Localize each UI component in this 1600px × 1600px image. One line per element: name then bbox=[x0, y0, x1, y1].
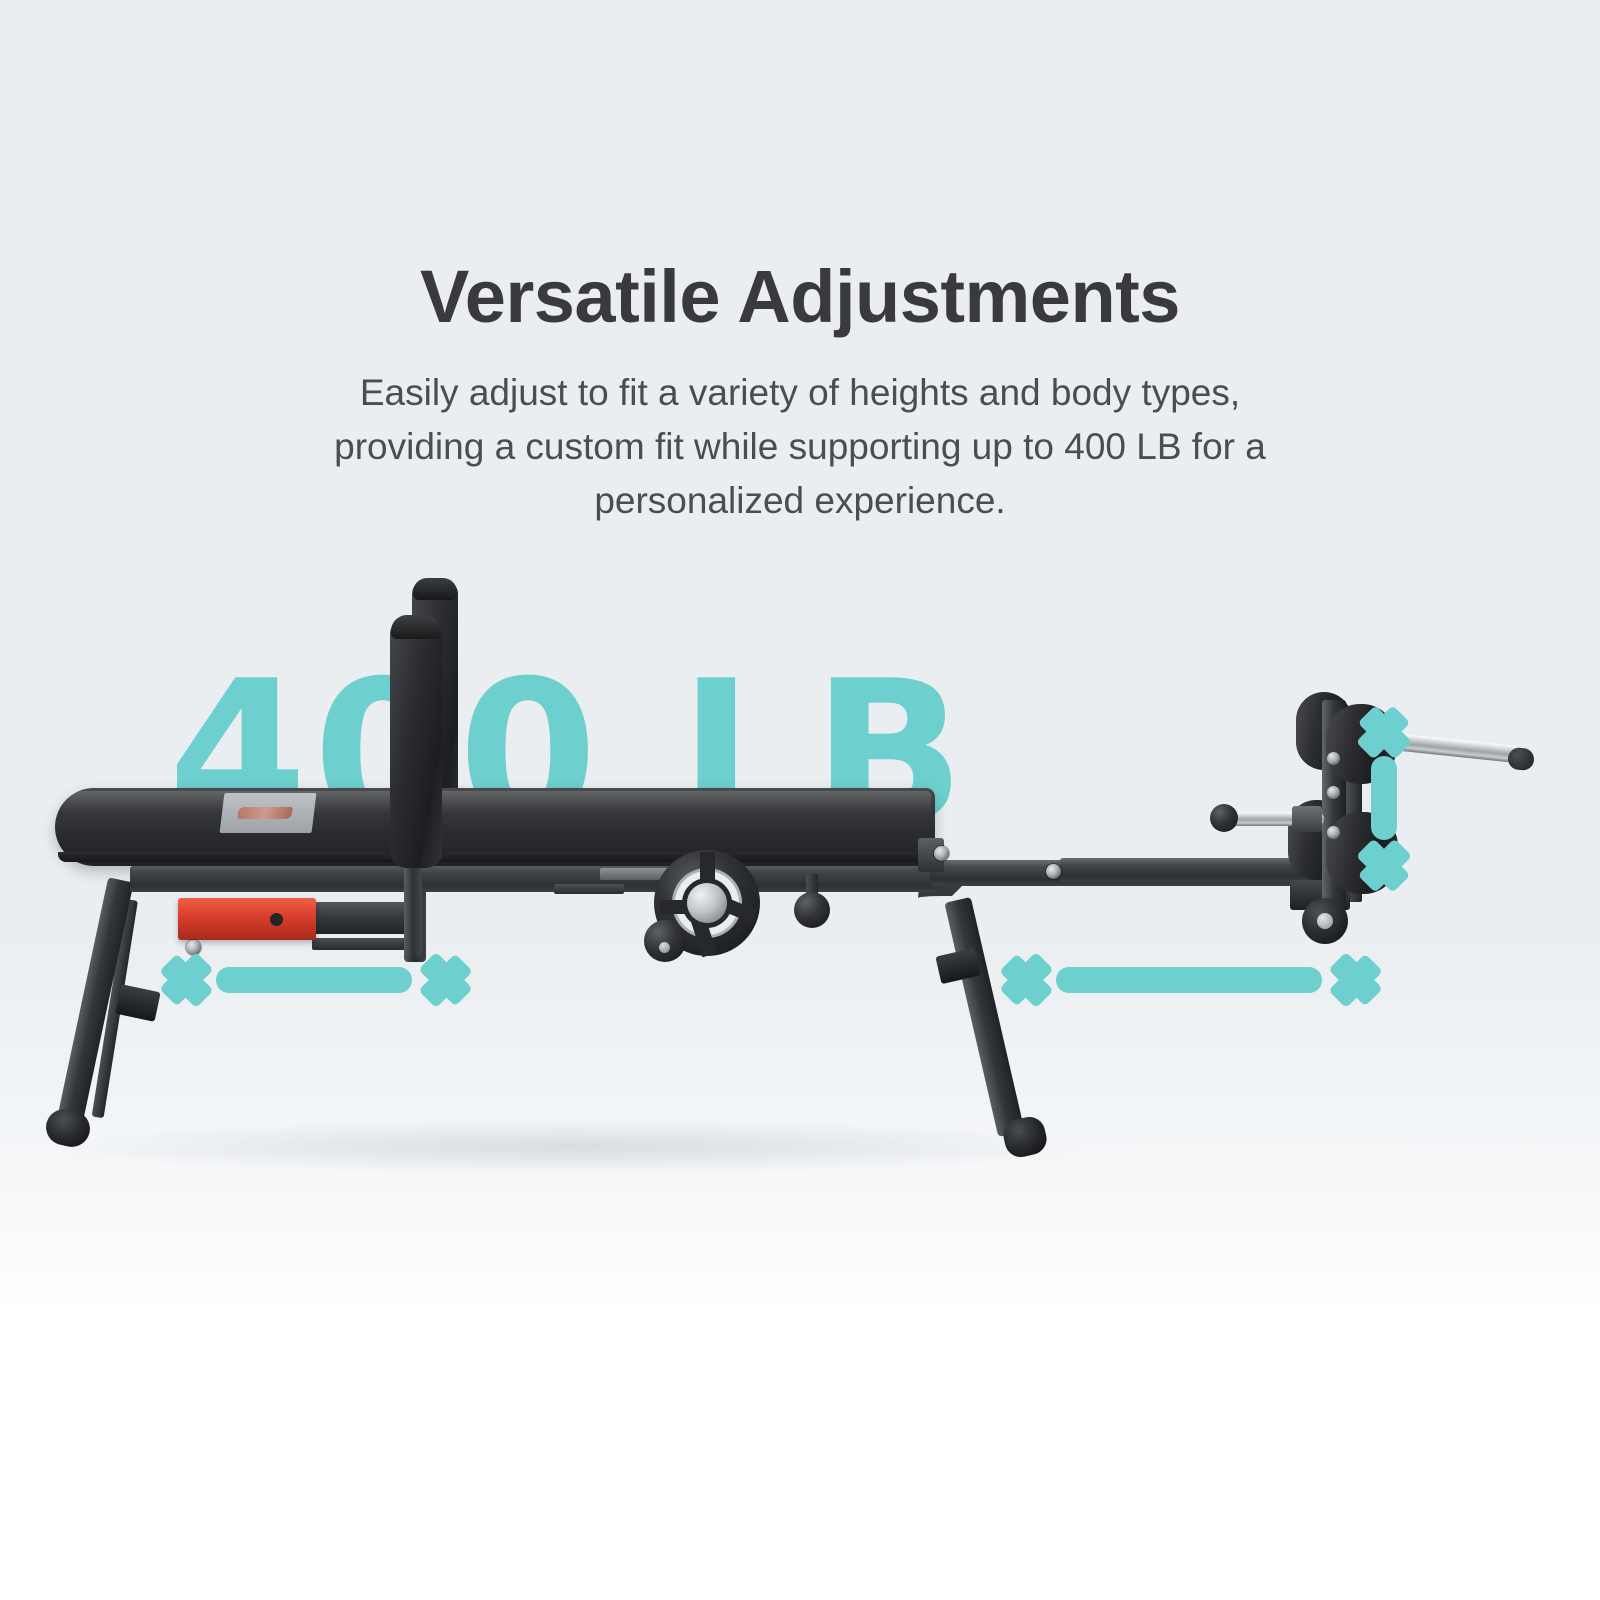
arrow-head-left-icon bbox=[168, 942, 214, 1018]
hand-wheel-ball-knob bbox=[644, 920, 686, 962]
arrow-head-up-icon bbox=[1346, 714, 1422, 760]
leg-developer-pin-ball-knob bbox=[1210, 804, 1238, 832]
arrow-head-down-icon bbox=[1346, 832, 1422, 878]
arrow-head-right-icon bbox=[1322, 942, 1368, 1018]
pop-pin-ball-knob bbox=[794, 892, 830, 928]
bench-pad-seam bbox=[58, 852, 934, 862]
rail-bolt-icon bbox=[1046, 864, 1061, 879]
arrow-head-right-icon bbox=[412, 942, 458, 1018]
leg-developer-bar-end-cap bbox=[1507, 747, 1535, 772]
front-adjustment-arrow-icon bbox=[168, 938, 458, 1022]
arrow-shaft bbox=[216, 967, 412, 993]
seat-slider-plate bbox=[554, 884, 624, 894]
arrow-shaft bbox=[1371, 756, 1397, 840]
leg-developer-pin-collar bbox=[1292, 806, 1322, 832]
front-leg-collar bbox=[115, 984, 160, 1022]
arrow-shaft bbox=[1056, 967, 1322, 993]
product-stage: 400 LB bbox=[0, 0, 1600, 1600]
bracket-arm bbox=[312, 902, 416, 934]
leg-developer-height-arrow-icon bbox=[1342, 714, 1426, 878]
hand-wheel-hub bbox=[687, 883, 727, 923]
pad-bracket-bolt-icon bbox=[934, 846, 949, 861]
thigh-pad-post-front bbox=[390, 618, 442, 868]
arrow-head-left-icon bbox=[1008, 942, 1054, 1018]
leg-developer-bolt-icon bbox=[1327, 752, 1340, 765]
frame-main-rail bbox=[130, 866, 940, 892]
bench-pad-label-sticker bbox=[220, 793, 317, 833]
ground-shadow bbox=[60, 1120, 1080, 1174]
leg-developer-bolt-icon bbox=[1327, 786, 1340, 799]
red-adjustment-bracket bbox=[178, 898, 316, 940]
leg-developer-bolt-icon bbox=[1327, 826, 1340, 839]
rear-adjustment-arrow-icon bbox=[1008, 938, 1368, 1022]
